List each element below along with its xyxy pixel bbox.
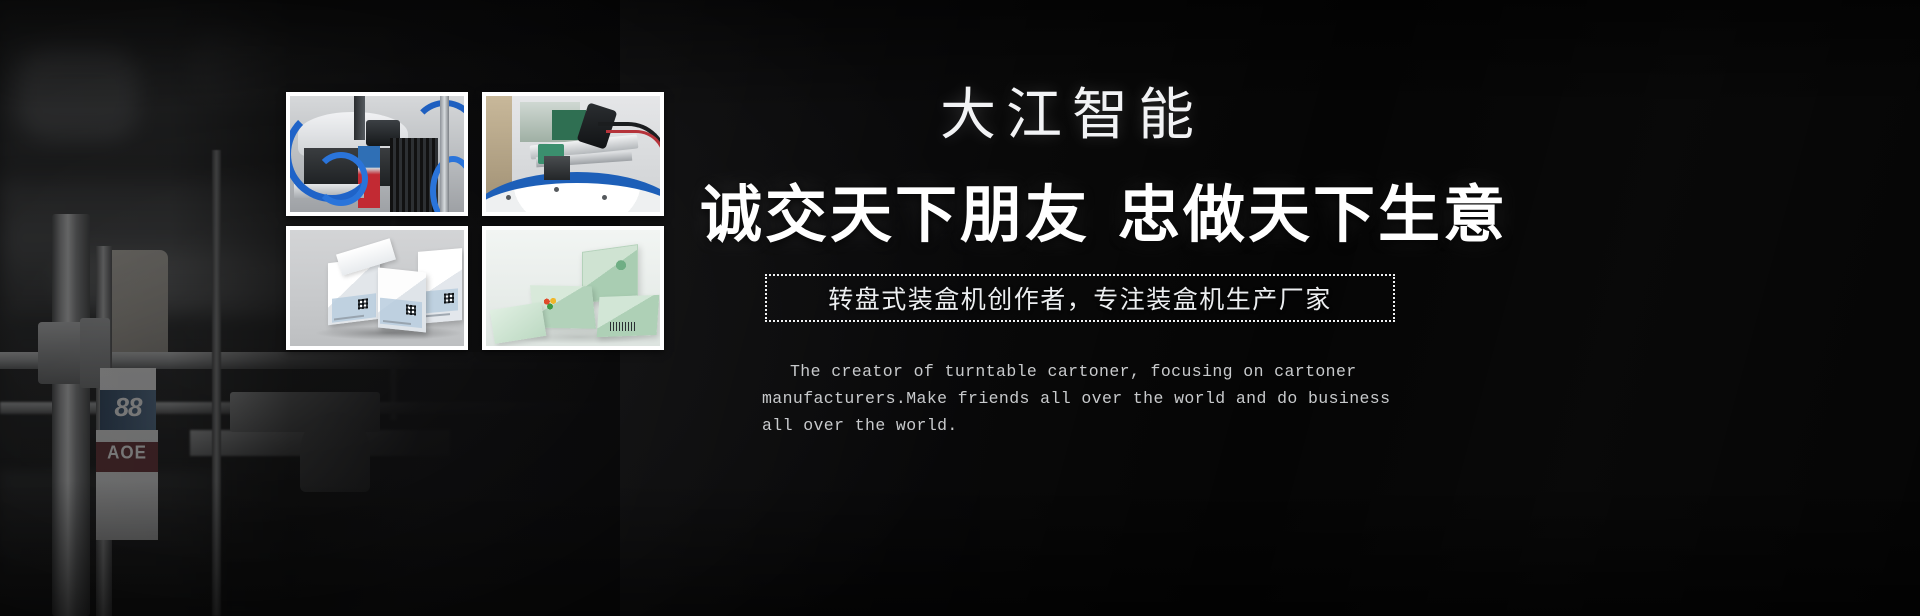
carton-leaf-logo-icon	[610, 258, 632, 270]
turntable-fixture-dot	[602, 195, 607, 200]
carton-text-line	[424, 313, 450, 317]
slogan-part-1: 诚交天下朋友	[700, 182, 1090, 250]
product-photo-white-cartons[interactable]	[286, 226, 468, 350]
product-photo-green-cartons[interactable]	[482, 226, 664, 350]
vacuum-gripper	[544, 156, 570, 180]
blue-air-hose	[314, 152, 368, 206]
tagline-text: 转盘式装盒机创作者，专注装盒机生产厂家	[828, 280, 1332, 316]
machine-frame-post	[440, 96, 449, 216]
hero-banner: 88 AOE	[0, 0, 1920, 616]
english-description: The creator of turntable cartoner, focus…	[762, 358, 1422, 439]
product-photo-grid	[286, 92, 664, 350]
carton-qr-code	[358, 298, 368, 309]
hero-slogan: 诚交天下朋友忠做天下生意	[700, 182, 1508, 251]
carton-qr-code	[406, 304, 416, 315]
carton-barcode	[610, 322, 636, 331]
tagline-dotted-box: 转盘式装盒机创作者，专注装盒机生产厂家	[765, 274, 1395, 322]
product-photo-cartoner-machine[interactable]	[286, 92, 468, 216]
white-carton-front	[378, 267, 426, 332]
product-photo-robot-gripper[interactable]	[482, 92, 664, 216]
hero-text-column: 大江智能 诚交天下朋友忠做天下生意 转盘式装盒机创作者，专注装盒机生产厂家 Th…	[700, 0, 1920, 616]
carton-colored-graphic	[542, 296, 558, 310]
carton-qr-code	[444, 293, 454, 304]
turntable-fixture-dot	[506, 195, 511, 200]
slogan-part-2: 忠做天下生意	[1118, 182, 1508, 250]
brand-title: 大江智能	[940, 88, 1204, 144]
turntable-fixture-dot	[554, 187, 559, 192]
